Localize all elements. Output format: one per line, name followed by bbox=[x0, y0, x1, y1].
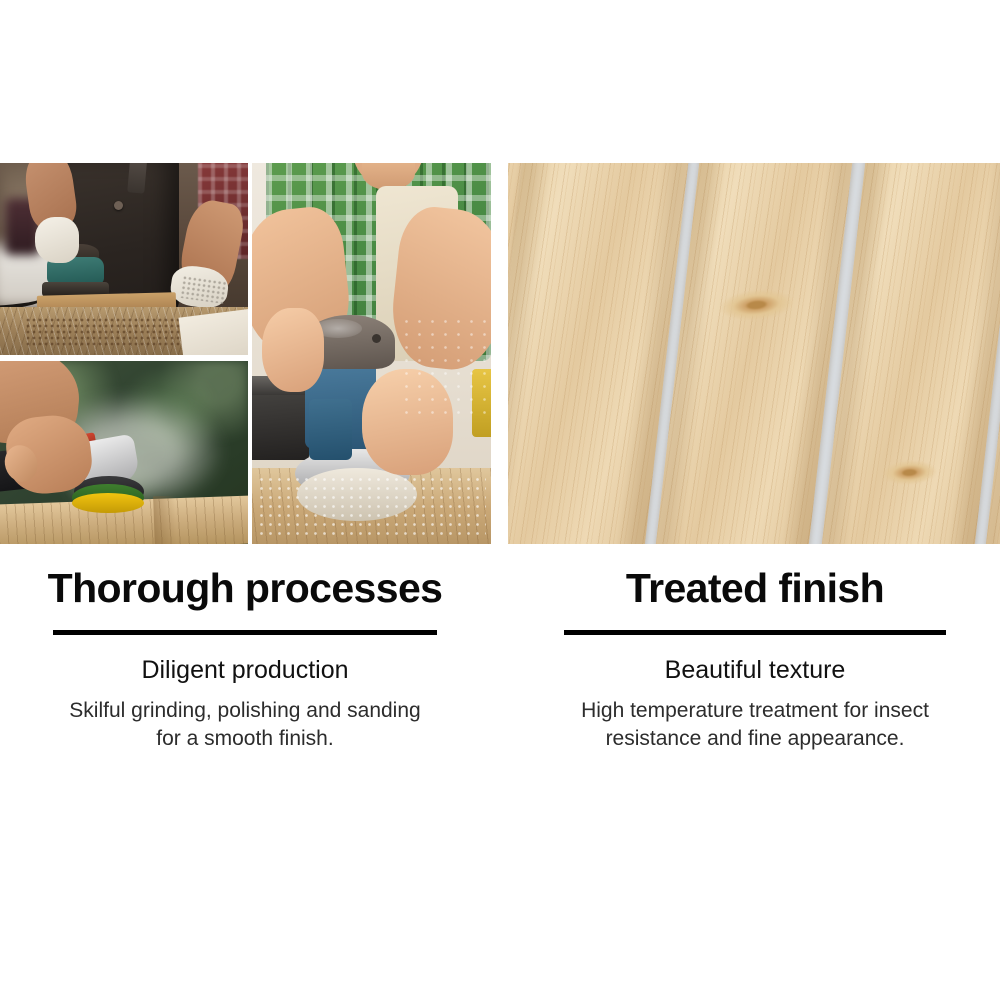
photo-random-orbit-sander bbox=[252, 163, 491, 544]
sanding-process-collage bbox=[0, 163, 491, 544]
feature-columns: Thorough processes Diligent production S… bbox=[0, 560, 1000, 790]
photo-angle-grinder-polisher bbox=[0, 361, 248, 544]
column-body-text: Skilful grinding, polishing and sanding … bbox=[55, 697, 435, 754]
column-title: Treated finish bbox=[520, 560, 990, 612]
title-divider-rule bbox=[564, 630, 946, 635]
media-band bbox=[0, 163, 1000, 544]
column-subtitle: Beautiful texture bbox=[520, 655, 990, 685]
title-divider-rule bbox=[53, 630, 437, 635]
product-feature-page: Thorough processes Diligent production S… bbox=[0, 0, 1000, 1000]
column-treated-finish: Treated finish Beautiful texture High te… bbox=[520, 560, 990, 754]
column-thorough-processes: Thorough processes Diligent production S… bbox=[10, 560, 480, 754]
photo-treated-pine-slats bbox=[508, 163, 1000, 544]
column-body-text: High temperature treatment for insect re… bbox=[565, 697, 945, 754]
column-title: Thorough processes bbox=[10, 560, 480, 612]
column-subtitle: Diligent production bbox=[10, 655, 480, 685]
photo-orbital-sander-apron bbox=[0, 163, 248, 355]
